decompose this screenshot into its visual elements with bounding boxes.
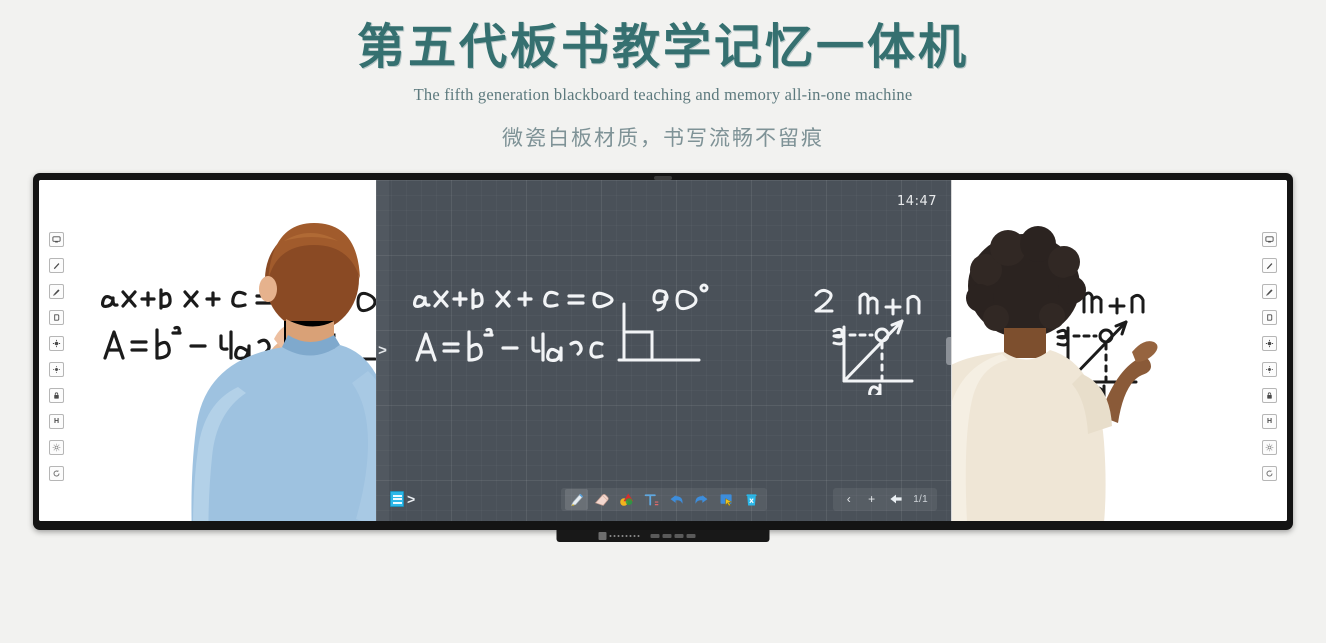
rotate-icon[interactable] <box>1262 310 1277 325</box>
eraser-icon[interactable] <box>590 489 613 510</box>
screen-icon[interactable] <box>49 232 64 247</box>
back-arrow-icon[interactable] <box>884 489 907 510</box>
settings-icon[interactable] <box>49 440 64 455</box>
hdmi-icon[interactable]: H <box>49 414 64 429</box>
rotate-icon[interactable] <box>49 310 64 325</box>
board-handwriting-equations <box>411 280 711 375</box>
add-page-button[interactable]: + <box>861 489 882 509</box>
port-row <box>651 534 696 538</box>
redo-icon[interactable] <box>690 489 713 510</box>
marker-icon[interactable] <box>1262 284 1277 299</box>
right-side-toolbar[interactable]: H <box>1262 232 1277 481</box>
pen-tool-icon[interactable] <box>49 258 64 273</box>
undo-icon[interactable] <box>665 489 688 510</box>
lock-icon[interactable] <box>49 388 64 403</box>
brightness-up-icon[interactable] <box>49 336 64 351</box>
page-header: 第五代板书教学记忆一体机 The fifth generation blackb… <box>0 0 1326 152</box>
person-right-student <box>951 180 1192 521</box>
delete-icon[interactable] <box>740 489 763 510</box>
pen-tool-icon[interactable] <box>1262 258 1277 273</box>
prev-page-button[interactable]: ‹ <box>838 489 859 509</box>
shapes-icon[interactable] <box>615 489 638 510</box>
page-indicator: 1/1 <box>909 494 932 505</box>
display-screen: H <box>39 180 1287 521</box>
left-whiteboard-panel[interactable]: H <box>39 180 376 521</box>
board-handwriting-vector <box>806 283 936 395</box>
clock-display: 14:47 <box>897 194 937 209</box>
brightness-up-icon[interactable] <box>1262 336 1277 351</box>
all-in-one-display: H <box>33 173 1293 530</box>
pen-icon[interactable] <box>565 489 588 510</box>
page-subtitle-en: The fifth generation blackboard teaching… <box>0 85 1326 105</box>
center-blackboard-panel[interactable]: > 14:47 <box>376 180 951 521</box>
select-icon[interactable] <box>715 489 738 510</box>
marker-icon[interactable] <box>49 284 64 299</box>
right-whiteboard-panel[interactable]: H <box>951 180 1287 521</box>
lock-icon[interactable] <box>1262 388 1277 403</box>
page-subtitle-cn: 微瓷白板材质，书写流畅不留痕 <box>0 122 1326 152</box>
panel-expand-handle[interactable]: > <box>376 180 389 521</box>
person-left-teacher <box>134 180 376 521</box>
refresh-icon[interactable] <box>1262 466 1277 481</box>
menu-icon[interactable] <box>390 491 404 507</box>
drag-grip-handle[interactable] <box>946 337 951 365</box>
chevron-right-icon: > <box>378 343 387 358</box>
brightness-down-icon[interactable] <box>49 362 64 377</box>
device-stand-base <box>557 530 770 542</box>
toolbar-page-nav-group[interactable]: ‹ + 1/1 <box>833 488 937 511</box>
toolbar-tools-group[interactable] <box>561 488 767 511</box>
page-title: 第五代板书教学记忆一体机 <box>0 20 1326 75</box>
refresh-icon[interactable] <box>49 466 64 481</box>
toolbar-menu-group[interactable]: > <box>390 491 415 507</box>
menu-expand-icon[interactable]: > <box>407 492 415 506</box>
hdmi-icon[interactable]: H <box>1262 414 1277 429</box>
brightness-down-icon[interactable] <box>1262 362 1277 377</box>
logo-chip <box>599 532 607 540</box>
indicator-dots <box>610 535 640 537</box>
board-bottom-toolbar[interactable]: > <box>376 487 951 511</box>
text-icon[interactable] <box>640 489 663 510</box>
settings-icon[interactable] <box>1262 440 1277 455</box>
screen-icon[interactable] <box>1262 232 1277 247</box>
left-side-toolbar[interactable]: H <box>49 232 64 481</box>
